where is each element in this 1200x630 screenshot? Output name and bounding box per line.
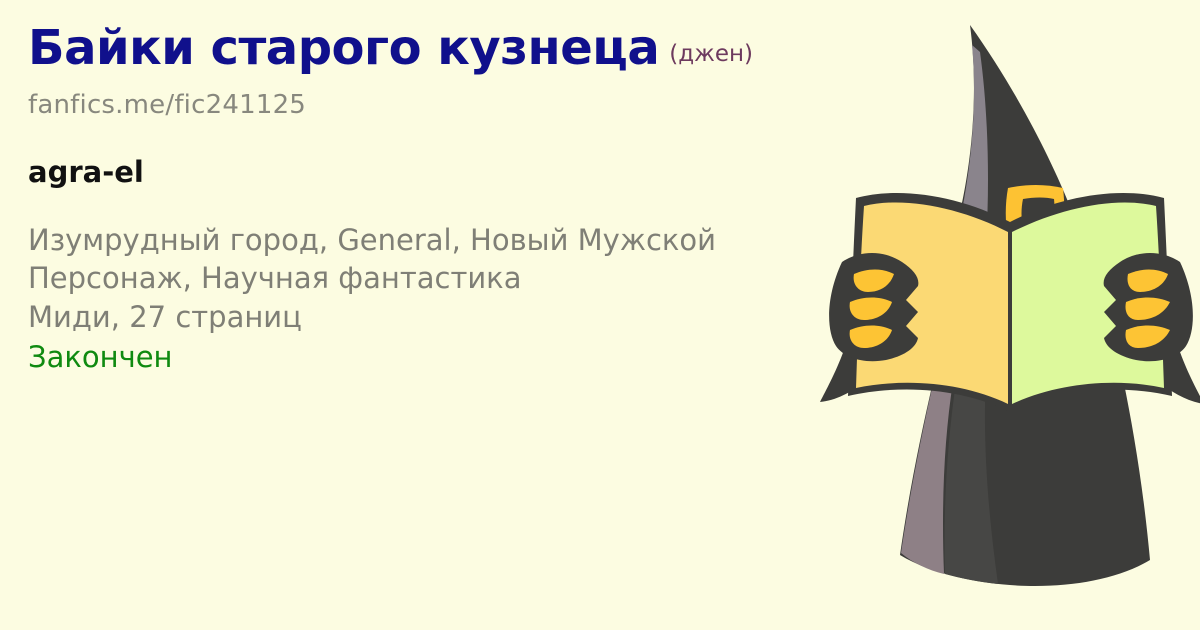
fic-info-column: Байки старого кузнеца(джен) fanfics.me/f… [28, 24, 828, 377]
fic-genre-label: (джен) [669, 41, 753, 67]
status-badge: Закончен [28, 339, 828, 377]
fic-tags: Изумрудный город, General, Новый Мужской… [28, 222, 788, 297]
fic-url[interactable]: fanfics.me/fic241125 [28, 90, 828, 120]
fic-meta-block: Изумрудный город, General, Новый Мужской… [28, 222, 828, 377]
right-hand [1104, 253, 1193, 361]
fic-author[interactable]: agra-el [28, 155, 828, 189]
wizard-reading-book-icon [820, 0, 1200, 630]
title-line: Байки старого кузнеца(джен) [28, 24, 828, 72]
page-title: Байки старого кузнеца [28, 20, 659, 76]
fic-card: Байки старого кузнеца(джен) fanfics.me/f… [0, 0, 1200, 630]
fic-size: Миди, 27 страниц [28, 299, 788, 337]
left-hand [829, 253, 918, 361]
wizard-reading-book-illustration [820, 0, 1200, 630]
book-spine [1008, 230, 1012, 410]
